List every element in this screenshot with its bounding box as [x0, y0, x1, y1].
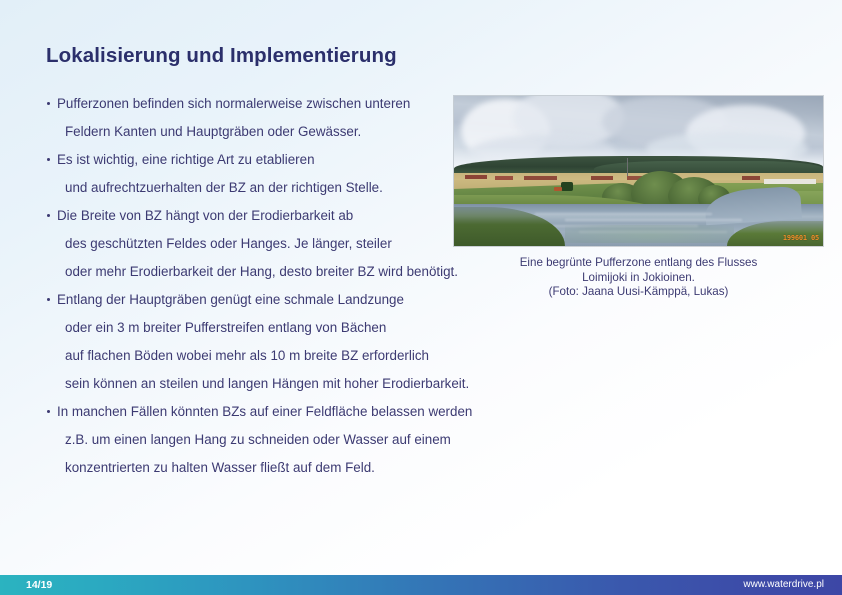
page-number: 14/19 [26, 575, 52, 595]
farm-building [591, 176, 613, 180]
farm-building [742, 176, 760, 180]
bullet-text: Pufferzonen befinden sich normalerweise … [57, 96, 410, 111]
bullet-line: und aufrechtzuerhalten der BZ an der ric… [46, 174, 446, 202]
bullet-line: Es ist wichtig, eine richtige Art zu eta… [46, 146, 446, 174]
bullet-line: Feldern Kanten und Hauptgräben oder Gewä… [46, 118, 446, 146]
bullet-line: Pufferzonen befinden sich normalerweise … [46, 90, 446, 118]
slide: Lokalisierung und Implementierung Puffer… [0, 0, 842, 595]
aquatic-vegetation [565, 225, 735, 243]
bullet-line: Entlang der Hauptgräben genügt eine schm… [46, 286, 446, 314]
bullet-dot-icon [47, 214, 50, 217]
footer-bar: 14/19 www.waterdrive.pl [0, 575, 842, 595]
farm-building [524, 176, 557, 180]
bullet-line: konzentrierten zu halten Wasser fließt a… [46, 454, 446, 482]
bullet-text: sein können an steilen und langen Hängen… [65, 376, 469, 391]
caption-line: Eine begrünte Pufferzone entlang des Flu… [454, 256, 823, 271]
bullet-text: Entlang der Hauptgräben genügt eine schm… [57, 292, 404, 307]
bullet-line: oder ein 3 m breiter Pufferstreifen entl… [46, 314, 446, 342]
bullet-dot-icon [47, 298, 50, 301]
bullet-text: auf flachen Böden wobei mehr als 10 m br… [65, 348, 429, 363]
bullet-dot-icon [47, 410, 50, 413]
bullet-text: konzentrierten zu halten Wasser fließt a… [65, 460, 375, 475]
bullet-dot-icon [47, 102, 50, 105]
bullet-line: oder mehr Erodierbarkeit der Hang, desto… [46, 258, 446, 286]
water-ripple [565, 219, 742, 221]
website-url[interactable]: www.waterdrive.pl [743, 575, 824, 595]
bullet-line: sein können an steilen und langen Hängen… [46, 370, 446, 398]
list-item: Es ist wichtig, eine richtige Art zu eta… [46, 146, 446, 202]
farm-building [465, 175, 487, 179]
bullet-text: Die Breite von BZ hängt von der Erodierb… [57, 208, 353, 223]
photo-caption: Eine begrünte Pufferzone entlang des Flu… [454, 256, 823, 300]
bullet-line: z.B. um einen langen Hang zu schneiden o… [46, 426, 446, 454]
tractor [561, 182, 573, 191]
farm-building [764, 179, 816, 184]
water-ripple [535, 213, 712, 215]
bullet-text: Es ist wichtig, eine richtige Art zu eta… [57, 152, 315, 167]
bullet-line: Die Breite von BZ hängt von der Erodierb… [46, 202, 446, 230]
farm-building [495, 176, 513, 180]
bullet-text: In manchen Fällen könnten BZs auf einer … [57, 404, 472, 419]
bullet-line: des geschützten Feldes oder Hanges. Je l… [46, 230, 446, 258]
bullet-text: des geschützten Feldes oder Hanges. Je l… [65, 236, 392, 251]
caption-line: Loimijoki in Jokioinen. [454, 271, 823, 286]
bullet-list: Pufferzonen befinden sich normalerweise … [46, 90, 446, 482]
list-item: Pufferzonen befinden sich normalerweise … [46, 90, 446, 146]
list-item: In manchen Fällen könnten BZs auf einer … [46, 398, 446, 482]
page-title: Lokalisierung und Implementierung [46, 44, 397, 68]
bullet-text: und aufrechtzuerhalten der BZ an der ric… [65, 180, 383, 195]
utility-pole [627, 158, 628, 178]
buffer-zone-photo: 199601 05 [454, 96, 823, 246]
bullet-text: oder mehr Erodierbarkeit der Hang, desto… [65, 264, 458, 279]
bullet-text: Feldern Kanten und Hauptgräben oder Gewä… [65, 124, 361, 139]
list-item: Die Breite von BZ hängt von der Erodierb… [46, 202, 446, 286]
list-item: Entlang der Hauptgräben genügt eine schm… [46, 286, 446, 398]
bullet-line: In manchen Fällen könnten BZs auf einer … [46, 398, 446, 426]
bullet-text: z.B. um einen langen Hang zu schneiden o… [65, 432, 451, 447]
caption-line: (Foto: Jaana Uusi-Kämppä, Lukas) [454, 285, 823, 300]
photo-block: 199601 05 [454, 96, 823, 246]
photo-date-stamp: 199601 05 [783, 234, 819, 242]
bullet-text: oder ein 3 m breiter Pufferstreifen entl… [65, 320, 386, 335]
bullet-dot-icon [47, 158, 50, 161]
bullet-line: auf flachen Böden wobei mehr als 10 m br… [46, 342, 446, 370]
